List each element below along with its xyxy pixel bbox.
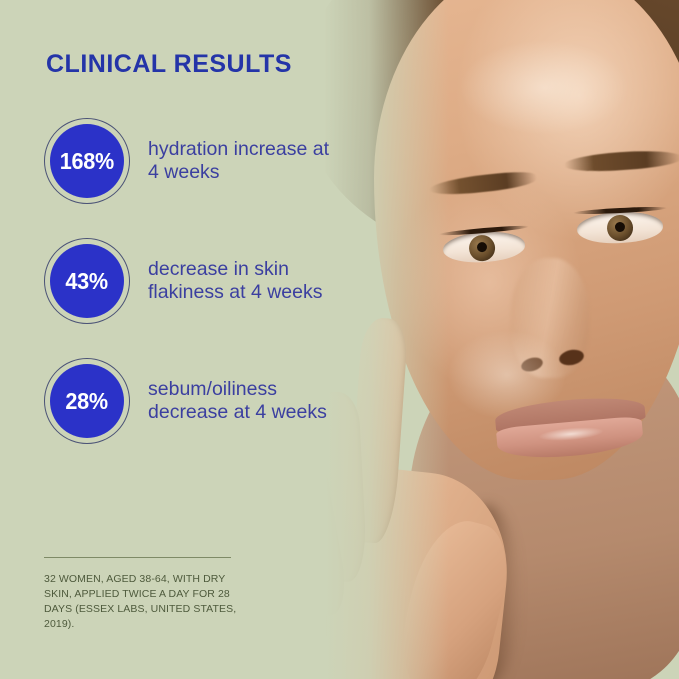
stat-description: hydration increase at 4 weeks xyxy=(148,138,329,184)
stat-badge: 28% xyxy=(44,358,130,444)
stat-description: sebum/oiliness decrease at 4 weeks xyxy=(148,378,327,424)
stat-value: 168% xyxy=(60,150,114,173)
stat-badge-fill: 168% xyxy=(50,124,124,198)
footnote-text: 32 WOMEN, AGED 38-64, WITH DRY SKIN, APP… xyxy=(44,572,254,632)
page-title: CLINICAL RESULTS xyxy=(46,50,292,79)
stat-badge: 43% xyxy=(44,238,130,324)
stat-description: decrease in skin flakiness at 4 weeks xyxy=(148,258,323,304)
stat-row: 168% hydration increase at 4 weeks xyxy=(44,118,329,204)
clinical-results-infographic: CLINICAL RESULTS 168% hydration increase… xyxy=(0,0,679,679)
stat-value: 43% xyxy=(66,270,108,293)
footnote-divider xyxy=(44,557,231,558)
stat-badge: 168% xyxy=(44,118,130,204)
content-overlay: CLINICAL RESULTS 168% hydration increase… xyxy=(0,0,679,679)
stat-badge-fill: 28% xyxy=(50,364,124,438)
stat-row: 43% decrease in skin flakiness at 4 week… xyxy=(44,238,323,324)
stat-value: 28% xyxy=(66,390,108,413)
stat-row: 28% sebum/oiliness decrease at 4 weeks xyxy=(44,358,327,444)
stat-badge-fill: 43% xyxy=(50,244,124,318)
